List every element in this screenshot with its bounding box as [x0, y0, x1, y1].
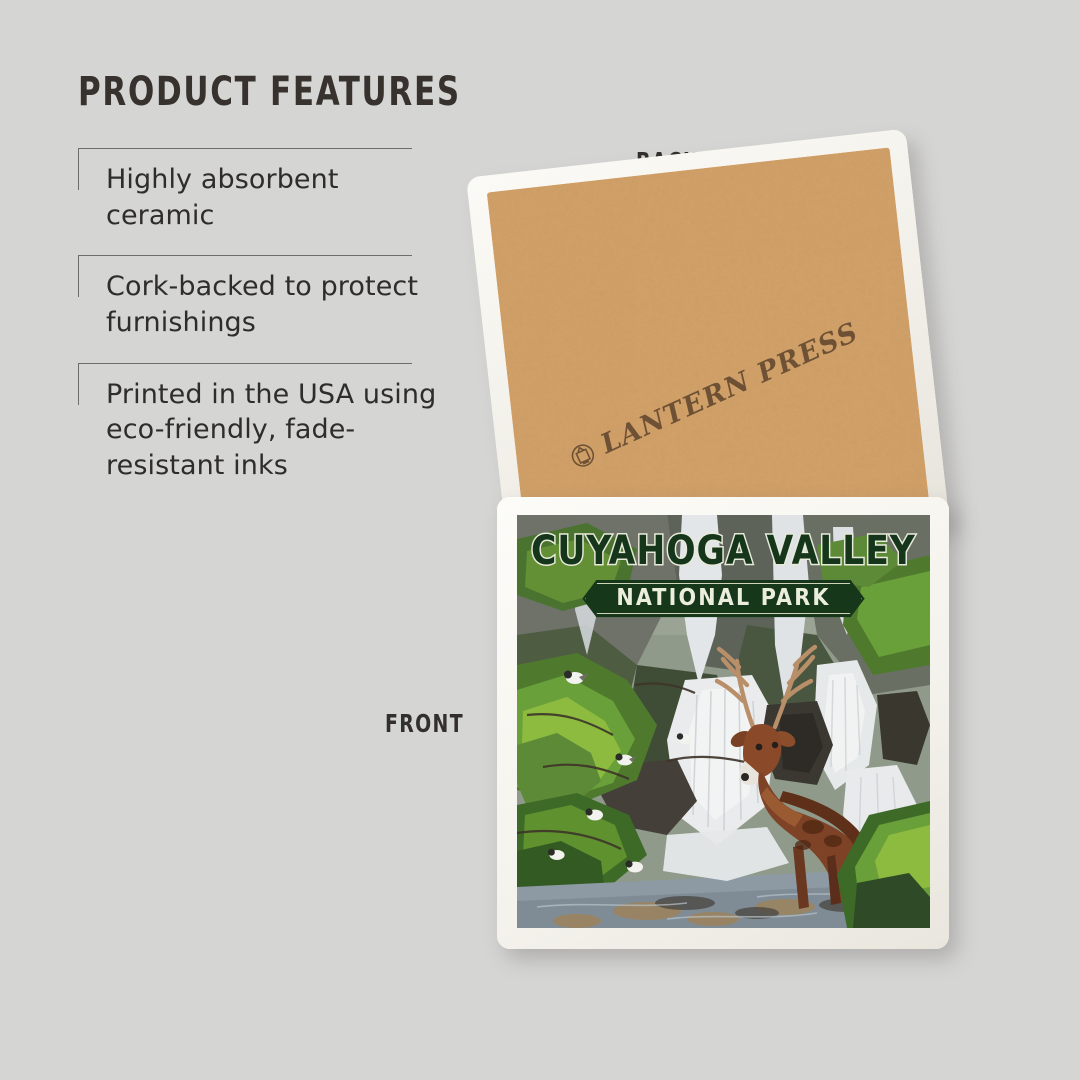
coaster-front: CUYAHOGA VALLEY NATIONAL PARK — [497, 497, 949, 949]
feature-divider — [78, 363, 412, 364]
page-title: PRODUCT FEATURES — [78, 72, 396, 112]
cork-surface: LANTERN PRESS — [487, 148, 930, 557]
product-features-panel: PRODUCT FEATURES Highly absorbent cerami… — [78, 72, 448, 505]
feature-item: Printed in the USA using eco-friendly, f… — [78, 363, 448, 484]
feature-bracket-tick — [78, 255, 79, 297]
cork-texture — [487, 148, 930, 557]
artwork-panel: CUYAHOGA VALLEY NATIONAL PARK — [517, 515, 930, 928]
feature-bracket-tick — [78, 363, 79, 405]
feature-text: Printed in the USA using eco-friendly, f… — [78, 377, 448, 484]
feature-divider — [78, 148, 412, 149]
feature-divider — [78, 255, 412, 256]
national-park-illustration — [517, 515, 930, 928]
feature-text: Cork-backed to protect furnishings — [78, 269, 448, 340]
feature-item: Highly absorbent ceramic — [78, 148, 448, 233]
label-front: FRONT — [385, 709, 464, 738]
feature-item: Cork-backed to protect furnishings — [78, 255, 448, 340]
feature-bracket-tick — [78, 148, 79, 190]
product-image-canvas: PRODUCT FEATURES Highly absorbent cerami… — [0, 0, 1080, 1080]
feature-text: Highly absorbent ceramic — [78, 162, 448, 233]
